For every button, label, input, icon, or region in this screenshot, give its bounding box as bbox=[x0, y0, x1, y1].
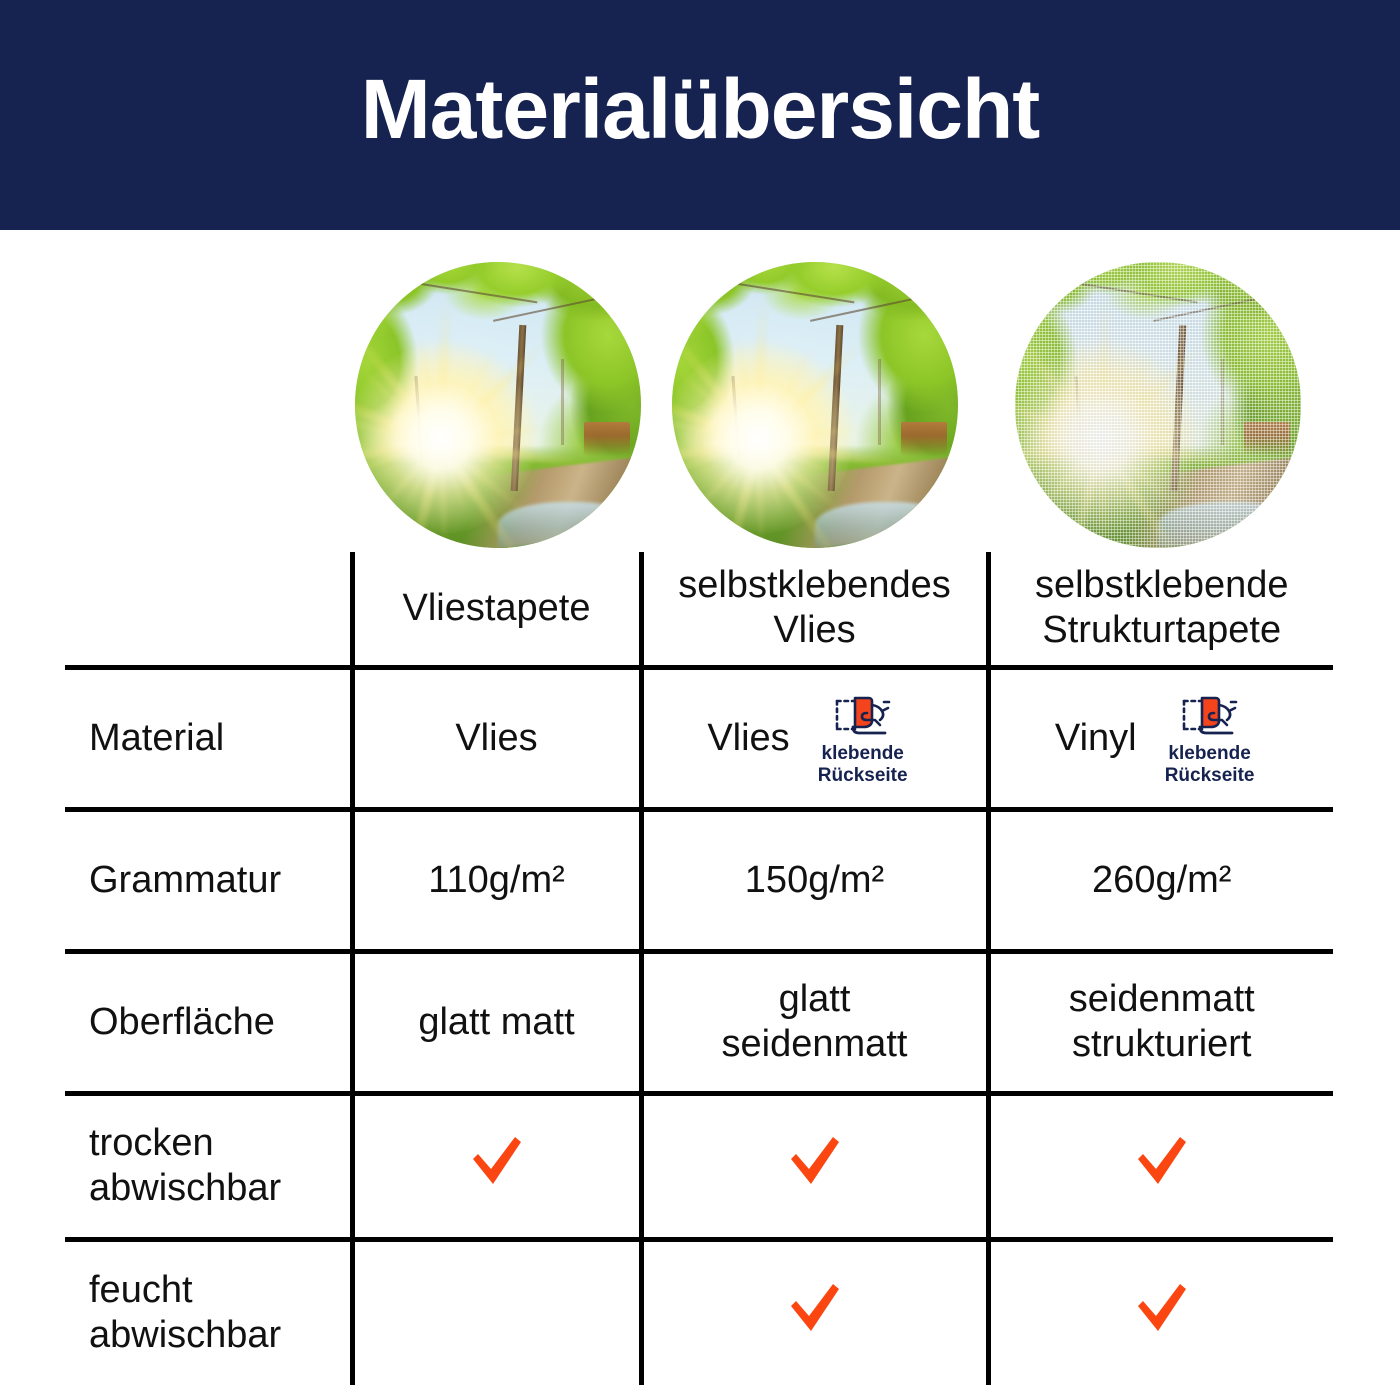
cell-grammatur-selbstklebendes-vlies: 150g/m² bbox=[641, 809, 988, 951]
peel-back-hand-icon bbox=[1178, 690, 1242, 740]
table-row: feucht abwischbar bbox=[65, 1239, 1333, 1385]
cell-value: Vlies bbox=[455, 716, 537, 761]
table-header-row: Vliestapete selbstklebendes Vlies selbst… bbox=[65, 552, 1333, 667]
check-icon bbox=[469, 1135, 525, 1187]
cell-material-selbstklebendes-vlies: Vlies bbox=[641, 667, 988, 809]
check-icon bbox=[787, 1135, 843, 1187]
table-row: trocken abwischbar bbox=[65, 1093, 1333, 1239]
cell-oberflaeche-selbstklebende-strukturtapete: seidenmatt strukturiert bbox=[988, 951, 1333, 1093]
check-icon bbox=[1134, 1135, 1190, 1187]
row-label-oberflaeche: Oberfläche bbox=[65, 951, 352, 1093]
badge-line-2: Rückseite bbox=[1165, 765, 1255, 786]
bench bbox=[901, 422, 947, 456]
cell-grammatur-vliestapete: 110g/m² bbox=[352, 809, 641, 951]
table-row: Oberfläche glatt matt glatt seidenmatt s… bbox=[65, 951, 1333, 1093]
preview-circle-row bbox=[0, 262, 1400, 552]
structure-texture-overlay bbox=[1015, 262, 1301, 548]
preview-vliestapete bbox=[355, 262, 641, 548]
nature-photo bbox=[355, 262, 641, 548]
preview-selbstklebende-strukturtapete bbox=[1015, 262, 1301, 548]
cell-feucht-selbstklebende-strukturtapete bbox=[988, 1239, 1333, 1385]
column-header-selbstklebendes-vlies: selbstklebendes Vlies bbox=[641, 552, 988, 667]
table-row: Material Vlies Vlies bbox=[65, 667, 1333, 809]
klebende-rueckseite-badge: klebendeRückseite bbox=[804, 690, 922, 786]
cell-trocken-selbstklebende-strukturtapete bbox=[988, 1093, 1333, 1239]
badge-line-1: klebende bbox=[822, 743, 904, 764]
klebende-rueckseite-badge: klebendeRückseite bbox=[1151, 690, 1269, 786]
cell-oberflaeche-selbstklebendes-vlies: glatt seidenmatt bbox=[641, 951, 988, 1093]
row-label-material: Material bbox=[65, 667, 352, 809]
material-comparison-table: Vliestapete selbstklebendes Vlies selbst… bbox=[65, 552, 1333, 1385]
row-label-trocken-abwischbar: trocken abwischbar bbox=[65, 1093, 352, 1239]
preview-selbstklebendes-vlies bbox=[672, 262, 958, 548]
badge-label: klebendeRückseite bbox=[1165, 743, 1255, 786]
peel-back-hand-icon bbox=[831, 690, 895, 740]
table-row: Grammatur 110g/m² 150g/m² 260g/m² bbox=[65, 809, 1333, 951]
nature-photo bbox=[672, 262, 958, 548]
page-title: Materialübersicht bbox=[361, 67, 1040, 163]
row-label-grammatur: Grammatur bbox=[65, 809, 352, 951]
row-label-feucht-abwischbar: feucht abwischbar bbox=[65, 1239, 352, 1385]
check-icon bbox=[1134, 1282, 1190, 1334]
cell-value: Vlies bbox=[707, 716, 789, 761]
cell-trocken-selbstklebendes-vlies bbox=[641, 1093, 988, 1239]
column-header-vliestapete: Vliestapete bbox=[352, 552, 641, 667]
badge-line-1: klebende bbox=[1168, 743, 1250, 764]
cell-grammatur-selbstklebende-strukturtapete: 260g/m² bbox=[988, 809, 1333, 951]
material-comparison-table-wrapper: Vliestapete selbstklebendes Vlies selbst… bbox=[65, 552, 1333, 1385]
column-header-selbstklebende-strukturtapete: selbstklebende Strukturtapete bbox=[988, 552, 1333, 667]
cell-value: Vinyl bbox=[1055, 716, 1137, 761]
cell-feucht-selbstklebendes-vlies bbox=[641, 1239, 988, 1385]
badge-line-2: Rückseite bbox=[818, 765, 908, 786]
bench bbox=[584, 422, 630, 456]
check-icon bbox=[787, 1282, 843, 1334]
cell-material-vliestapete: Vlies bbox=[352, 667, 641, 809]
header-corner-cell bbox=[65, 552, 352, 667]
cell-oberflaeche-vliestapete: glatt matt bbox=[352, 951, 641, 1093]
nature-photo bbox=[1015, 262, 1301, 548]
cell-trocken-vliestapete bbox=[352, 1093, 641, 1239]
page-header-banner: Materialübersicht bbox=[0, 0, 1400, 230]
badge-label: klebendeRückseite bbox=[818, 743, 908, 786]
cell-feucht-vliestapete bbox=[352, 1239, 641, 1385]
cell-material-selbstklebende-strukturtapete: Vinyl bbox=[988, 667, 1333, 809]
